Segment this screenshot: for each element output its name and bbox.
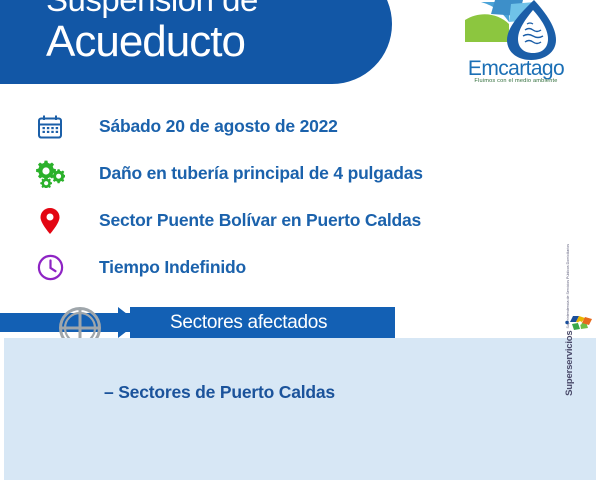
- info-row-date: Sábado 20 de agosto de 2022: [0, 103, 470, 150]
- sectores-bar: Sectores afectados: [0, 305, 600, 341]
- info-text-date: Sábado 20 de agosto de 2022: [99, 116, 338, 137]
- info-text-duration: Tiempo Indefinido: [99, 257, 246, 278]
- emcartago-logo: Emcartago Fluimos con el medio ambiente: [455, 0, 577, 92]
- pinwheel-icon: [564, 313, 596, 331]
- header-banner: Suspensión de Acueducto: [0, 0, 392, 84]
- gears-icon: [29, 160, 71, 188]
- clock-icon: [29, 254, 71, 281]
- water-drop-landscape-logo-icon: [459, 0, 573, 60]
- emcartago-wordmark: Emcartago: [455, 58, 577, 79]
- info-text-cause: Daño en tubería principal de 4 pulgadas: [99, 163, 423, 184]
- affected-sectors-panel: – Sectores de Puerto Caldas: [4, 338, 596, 480]
- superservicios-logo: Superservicios Superintendencia de Servi…: [562, 243, 598, 343]
- info-text-location: Sector Puente Bolívar en Puerto Caldas: [99, 210, 421, 231]
- header-title-line2: Acueducto: [46, 19, 245, 65]
- header-title-line1: Suspensión de: [46, 0, 258, 17]
- calendar-icon: [29, 114, 71, 140]
- info-list: Sábado 20 de agosto de 2022 Daño en tube…: [0, 103, 470, 291]
- sectores-bar-label: Sectores afectados: [170, 307, 327, 338]
- location-pin-icon: [29, 207, 71, 235]
- affected-sector-item: – Sectores de Puerto Caldas: [104, 382, 335, 403]
- info-row-cause: Daño en tubería principal de 4 pulgadas: [0, 150, 470, 197]
- info-row-duration: Tiempo Indefinido: [0, 244, 470, 291]
- info-row-location: Sector Puente Bolívar en Puerto Caldas: [0, 197, 470, 244]
- superservicios-name: Superservicios: [565, 331, 575, 396]
- emcartago-tagline: Fluimos con el medio ambiente: [455, 78, 577, 85]
